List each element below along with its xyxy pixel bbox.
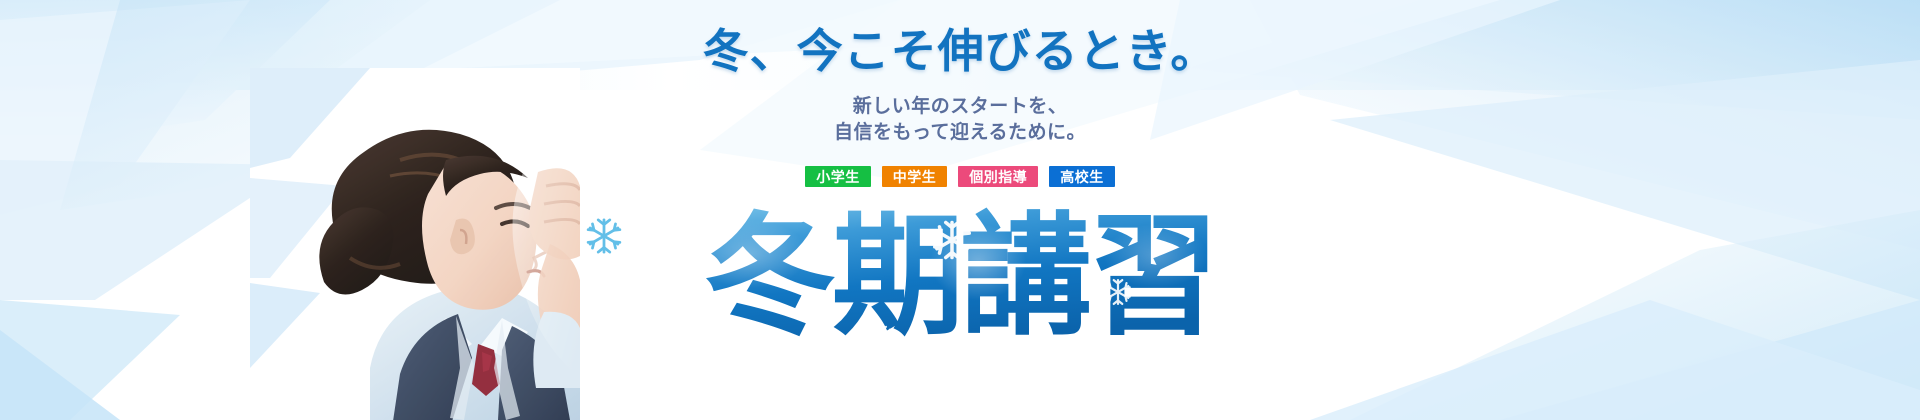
- banner-content: 冬、今こそ伸びるとき。 新しい年のスタートを、 自信をもって迎えるために。 小学…: [560, 0, 1360, 420]
- student-photo-illustration: [250, 68, 580, 420]
- main-title: 冬期講習: [560, 196, 1360, 356]
- student-photo: [250, 68, 580, 420]
- badge-private[interactable]: 個別指導: [958, 166, 1038, 187]
- subtitle-line-2: 自信をもって迎えるために。: [560, 120, 1360, 146]
- headline: 冬、今こそ伸びるとき。: [560, 28, 1360, 74]
- winter-course-banner: 冬、今こそ伸びるとき。 新しい年のスタートを、 自信をもって迎えるために。 小学…: [0, 0, 1920, 420]
- badge-highschool[interactable]: 高校生: [1049, 166, 1115, 187]
- badge-juniorhigh[interactable]: 中学生: [882, 166, 948, 187]
- main-title-graphic: 冬期講習: [560, 196, 1360, 356]
- audience-badge-list: 小学生 中学生 個別指導 高校生: [560, 166, 1360, 187]
- badge-elementary[interactable]: 小学生: [805, 166, 871, 187]
- snowflake-icon: [588, 220, 620, 252]
- subtitle: 新しい年のスタートを、 自信をもって迎えるために。: [560, 94, 1360, 146]
- subtitle-line-1: 新しい年のスタートを、: [560, 94, 1360, 120]
